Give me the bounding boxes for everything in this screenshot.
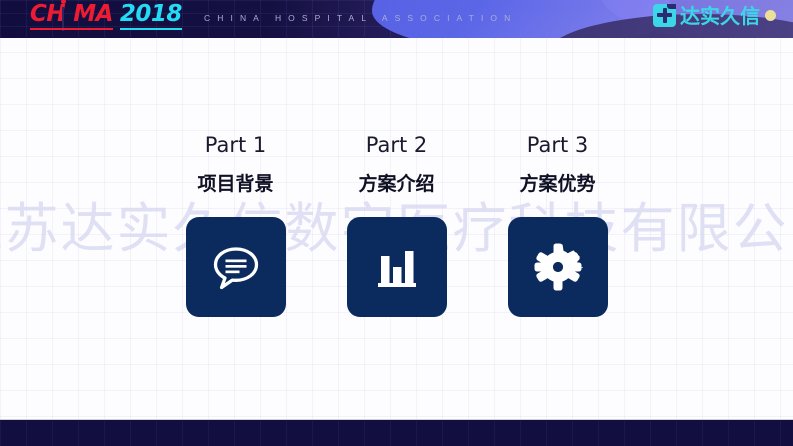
part-2-icon-tile[interactable] [347, 217, 447, 317]
slide-footer [0, 420, 793, 446]
mark-cross-horizontal [657, 13, 672, 17]
chima-logo-underline [30, 28, 113, 30]
chima-logo-year-wrap: 2018 [120, 3, 182, 25]
chima-logo-year: 2018 [120, 1, 182, 27]
part-3-title: 方案优势 [519, 172, 595, 196]
slide-header: CHIMA 2018 CHINA HOSPITAL ASSOCIATION 达实… [0, 0, 793, 38]
agenda-part-3[interactable]: Part 3 方案优势 [508, 132, 608, 317]
chima-logo-i-dot [61, 0, 66, 4]
brand-dot-decoration [765, 10, 776, 21]
chima-year-underline [120, 28, 182, 30]
association-subtitle: CHINA HOSPITAL ASSOCIATION [204, 13, 517, 23]
part-3-label: Part 3 [527, 132, 589, 158]
speech-bubble-icon [209, 240, 263, 294]
bar-chart-icon [373, 243, 421, 291]
slide-canvas: 江苏达实久信数字医疗科技有限公司 CHIMA 2018 CHINA HOSPIT… [0, 0, 793, 446]
chima-logo-tail: MA [73, 1, 113, 27]
part-1-title: 项目背景 [197, 172, 273, 196]
footer-grid-pattern [0, 420, 793, 446]
gear-icon [533, 242, 583, 292]
part-3-icon-tile[interactable] [508, 217, 608, 317]
part-2-title: 方案介绍 [358, 172, 434, 196]
mark-notch [667, 4, 676, 9]
chima-logo: CHIMA 2018 [30, 3, 182, 25]
dashi-jiuxin-mark-icon [653, 4, 676, 27]
agenda-parts: Part 1 项目背景 Part 2 方案介绍 [0, 132, 793, 317]
part-1-icon-tile[interactable] [186, 217, 286, 317]
part-1-label: Part 1 [205, 132, 267, 158]
chima-logo-wordmark: CHIMA [30, 3, 113, 25]
chima-logo-head: CH [30, 1, 65, 27]
agenda-part-2[interactable]: Part 2 方案介绍 [347, 132, 447, 317]
sponsor-brand-name: 达实久信 [680, 5, 760, 27]
part-2-label: Part 2 [366, 132, 428, 158]
sponsor-brand: 达实久信 [653, 4, 776, 27]
agenda-part-1[interactable]: Part 1 项目背景 [186, 132, 286, 317]
